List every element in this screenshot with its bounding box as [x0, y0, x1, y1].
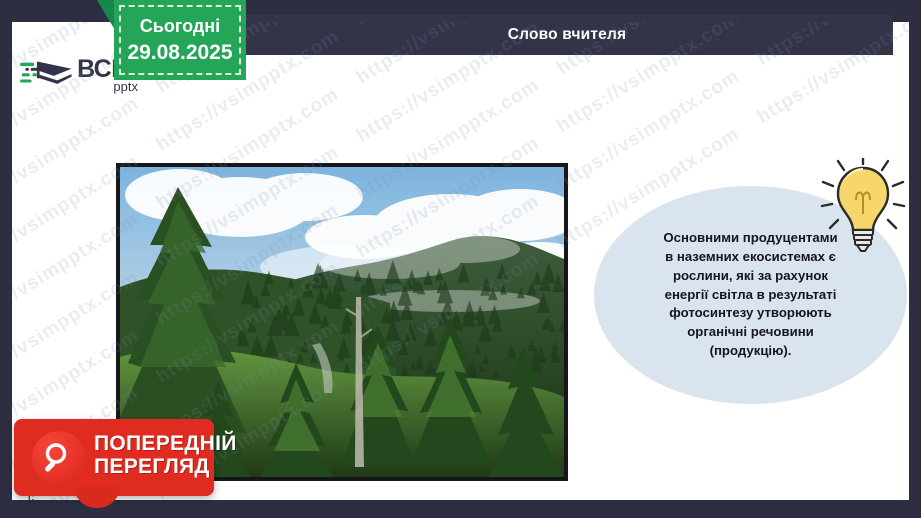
graduation-cap-icon [20, 54, 75, 96]
date-badge-label: Сьогодні [140, 16, 220, 37]
preview-badge-labels: ПОПЕРЕДНІЙ ПЕРЕГЛЯД [94, 433, 237, 478]
preview-badge[interactable]: ПОПЕРЕДНІЙ ПЕРЕГЛЯД [14, 419, 214, 496]
slide-viewer: https://vsimpptx.com https://vsimpptx.co… [0, 0, 921, 518]
preview-badge-tab [74, 486, 120, 508]
date-badge-value: 29.08.2025 [127, 41, 232, 65]
magnifier-icon [32, 431, 86, 485]
section-header-bar: Слово вчителя [241, 15, 893, 55]
section-title: Слово вчителя [508, 26, 627, 44]
preview-badge-line-1: ПОПЕРЕДНІЙ [94, 433, 237, 456]
badge-fold-corner [97, 0, 115, 48]
preview-badge-line-2: ПЕРЕГЛЯД [94, 456, 237, 479]
lightbulb-icon [818, 158, 908, 254]
date-badge-body: Сьогодні 29.08.2025 [114, 0, 246, 80]
